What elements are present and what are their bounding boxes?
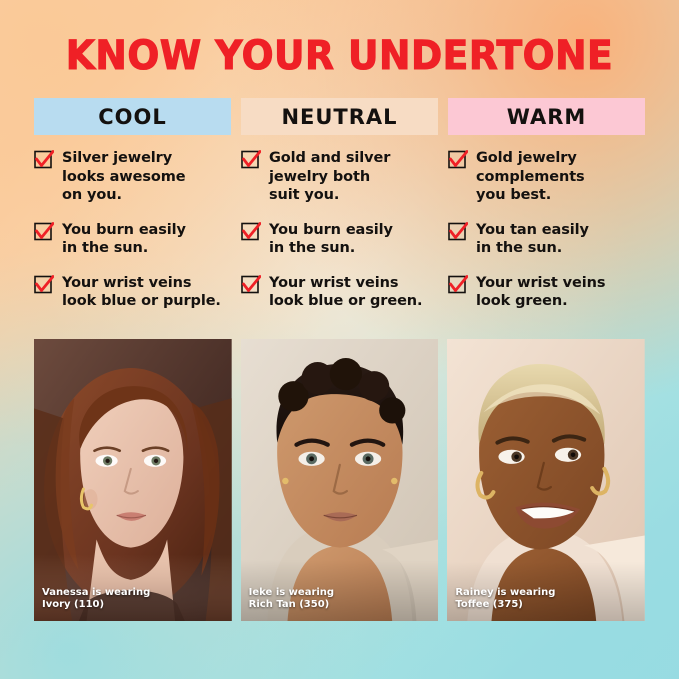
model-photos: Vanessa is wearing Ivory (110) (0, 327, 679, 621)
check-icon (34, 275, 54, 295)
column-warm: WARM Gold jewelry complements you best. (448, 98, 645, 327)
list-item: Silver jewelry looks awesome on you. (34, 149, 231, 205)
column-neutral: NEUTRAL Gold and silver jewelry both sui… (241, 98, 438, 327)
list-item: You tan easily in the sun. (448, 221, 645, 258)
check-icon (448, 150, 468, 170)
check-icon (448, 275, 468, 295)
photo-neutral-model: Ieke is wearing Rich Tan (350) (241, 339, 439, 621)
list-item-label: Your wrist veins look blue or green. (269, 274, 422, 311)
photo-caption: Rainey is wearing Toffee (375) (455, 587, 555, 611)
column-header-neutral: NEUTRAL (241, 98, 438, 135)
check-icon (241, 150, 261, 170)
photo-cool-model: Vanessa is wearing Ivory (110) (34, 339, 232, 621)
warm-model-illustration (447, 339, 645, 621)
check-icon (448, 222, 468, 242)
list-item-label: Gold and silver jewelry both suit you. (269, 149, 390, 205)
photo-caption: Ieke is wearing Rich Tan (350) (249, 587, 334, 611)
column-header-cool: COOL (34, 98, 231, 135)
list-item: Gold and silver jewelry both suit you. (241, 149, 438, 205)
list-item: You burn easily in the sun. (34, 221, 231, 258)
check-icon (241, 222, 261, 242)
neutral-model-illustration (241, 339, 439, 621)
column-items-neutral: Gold and silver jewelry both suit you. Y… (241, 135, 438, 311)
list-item-label: Silver jewelry looks awesome on you. (62, 149, 185, 205)
check-icon (241, 275, 261, 295)
list-item-label: Your wrist veins look green. (476, 274, 605, 311)
list-item: Your wrist veins look blue or green. (241, 274, 438, 311)
undertone-columns: COOL Silver jewelry looks awesome on you… (0, 76, 679, 327)
photo-warm-model: Rainey is wearing Toffee (375) (447, 339, 645, 621)
column-items-warm: Gold jewelry complements you best. You t… (448, 135, 645, 311)
photo-caption: Vanessa is wearing Ivory (110) (42, 587, 150, 611)
list-item-label: Your wrist veins look blue or purple. (62, 274, 221, 311)
list-item: Gold jewelry complements you best. (448, 149, 645, 205)
column-header-warm: WARM (448, 98, 645, 135)
check-icon (34, 150, 54, 170)
list-item: Your wrist veins look blue or purple. (34, 274, 231, 311)
list-item-label: Gold jewelry complements you best. (476, 149, 585, 205)
list-item-label: You tan easily in the sun. (476, 221, 589, 258)
list-item: Your wrist veins look green. (448, 274, 645, 311)
column-items-cool: Silver jewelry looks awesome on you. You… (34, 135, 231, 311)
list-item: You burn easily in the sun. (241, 221, 438, 258)
list-item-label: You burn easily in the sun. (62, 221, 186, 258)
check-icon (34, 222, 54, 242)
page-title: KNOW YOUR UNDERTONE (20, 0, 658, 76)
cool-model-illustration (34, 339, 232, 621)
list-item-label: You burn easily in the sun. (269, 221, 393, 258)
column-cool: COOL Silver jewelry looks awesome on you… (34, 98, 231, 327)
undertone-poster: KNOW YOUR UNDERTONE COOL Silver jewelry … (0, 0, 679, 679)
